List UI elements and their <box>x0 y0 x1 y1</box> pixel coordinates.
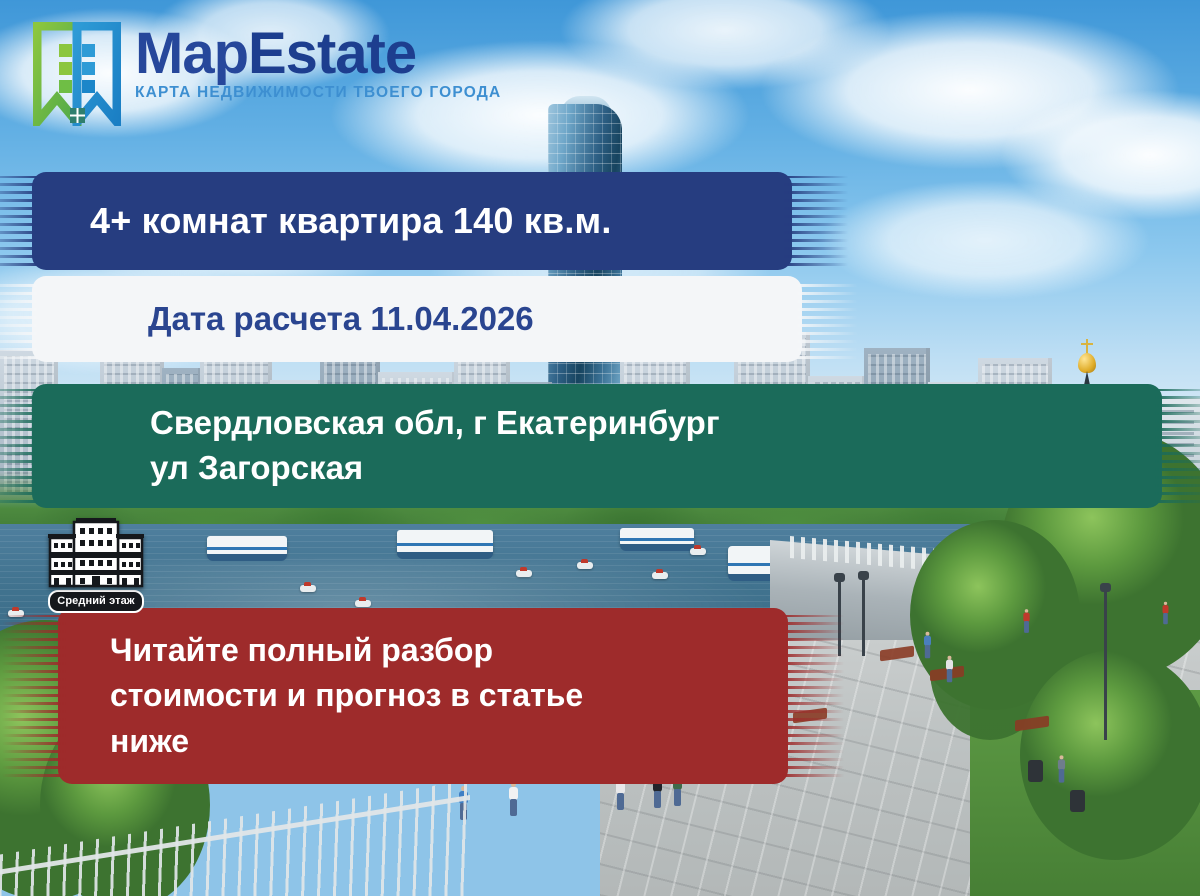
pedestrian <box>508 782 519 816</box>
pedestrian <box>1162 602 1169 624</box>
rooms-banner-text: 4+ комнат квартира 140 кв.м. <box>32 200 612 242</box>
promo-poster: MapEstate КАРТА НЕДВИЖИМОСТИ ТВОЕГО ГОРО… <box>0 0 1200 896</box>
brand-title: MapEstate <box>135 26 501 82</box>
golden-dome <box>1078 353 1096 373</box>
address-banner-text: Свердловская обл, г Екатеринбург ул Заго… <box>32 401 720 490</box>
cta-banner-text: Читайте полный разбор стоимости и прогно… <box>58 628 583 764</box>
pedestrian <box>923 632 932 659</box>
cloud-icon <box>820 180 1150 300</box>
cta-line-1: Читайте полный разбор <box>110 628 583 673</box>
brand-title-map: Map <box>135 21 248 86</box>
pedal-boat <box>516 570 532 577</box>
brand-title-estate: Estate <box>248 21 416 86</box>
trash-bin-icon <box>1028 760 1043 782</box>
cta-line-2: стоимости и прогноз в статье <box>110 673 583 718</box>
pedal-boat <box>355 600 371 607</box>
river-boat <box>397 530 493 554</box>
pedestrian <box>945 656 954 683</box>
cta-banner: Читайте полный разбор стоимости и прогно… <box>58 608 788 784</box>
tree-icon <box>1020 650 1200 860</box>
brand-tagline: КАРТА НЕДВИЖИМОСТИ ТВОЕГО ГОРОДА <box>135 84 501 102</box>
apartment-building-icon <box>48 516 144 588</box>
address-banner: Свердловская обл, г Екатеринбург ул Заго… <box>32 384 1162 508</box>
trash-bin-icon <box>1070 790 1085 812</box>
floor-badge-label: Средний этаж <box>48 590 144 613</box>
river-boat <box>620 528 694 546</box>
building-bookmark-logo-icon <box>33 22 121 126</box>
pedestrian <box>1023 609 1031 633</box>
address-line-2: ул Загорская <box>150 446 720 491</box>
address-line-1: Свердловская обл, г Екатеринбург <box>150 401 720 446</box>
rooms-banner: 4+ комнат квартира 140 кв.м. <box>32 172 792 270</box>
pedestrian <box>1057 755 1066 782</box>
date-banner-text: Дата расчета 11.04.2026 <box>32 300 534 338</box>
street-lamp-icon <box>862 578 865 656</box>
pedal-boat <box>577 562 593 569</box>
brand-logo[interactable]: MapEstate КАРТА НЕДВИЖИМОСТИ ТВОЕГО ГОРО… <box>33 22 501 126</box>
cta-line-3: ниже <box>110 719 583 764</box>
floor-badge: Средний этаж <box>48 516 144 613</box>
brand-wordmark: MapEstate КАРТА НЕДВИЖИМОСТИ ТВОЕГО ГОРО… <box>135 22 501 102</box>
pedal-boat <box>652 572 668 579</box>
date-banner: Дата расчета 11.04.2026 <box>32 276 802 362</box>
river-boat <box>207 536 287 556</box>
pedal-boat <box>690 548 706 555</box>
pedal-boat <box>300 585 316 592</box>
street-lamp-icon <box>1104 590 1107 740</box>
